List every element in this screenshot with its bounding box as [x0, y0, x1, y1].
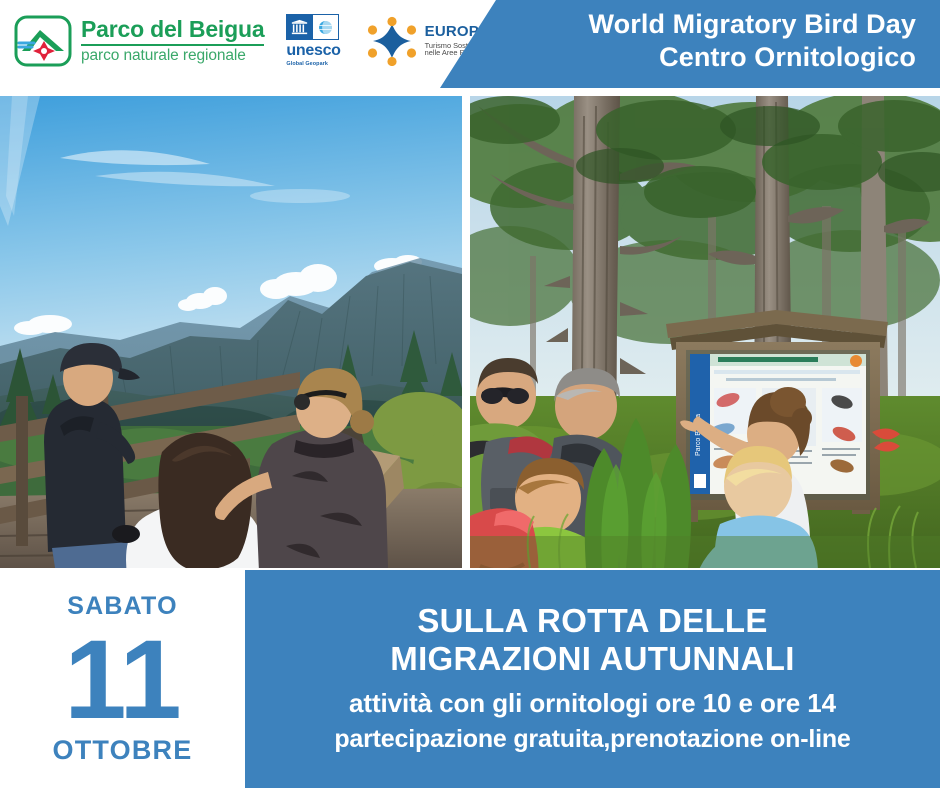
header-banner: World Migratory Bird Day Centro Ornitolo… — [440, 0, 940, 88]
header-banner-text: World Migratory Bird Day Centro Ornitolo… — [589, 8, 916, 75]
event-title: SULLA ROTTA DELLE MIGRAZIONI AUTUNNALI — [390, 602, 794, 679]
bottom-section: SABATO 11 OTTOBRE SULLA ROTTA DELLE MIGR… — [0, 570, 940, 788]
event-title-line-1: SULLA ROTTA DELLE — [390, 602, 794, 640]
event-subtitle: attività con gli ornitologi ore 10 e ore… — [349, 687, 836, 721]
event-info-block: SULLA ROTTA DELLE MIGRAZIONI AUTUNNALI a… — [245, 570, 940, 788]
event-booking-note: partecipazione gratuita,prenotazione on-… — [334, 723, 850, 756]
unesco-globe-icon — [312, 15, 338, 39]
beigua-emblem-icon — [14, 15, 72, 67]
logo-unesco: unesco Global Geopark — [286, 14, 340, 67]
unesco-emblem-icon — [286, 14, 339, 40]
date-month: OTTOBRE — [53, 737, 193, 764]
beigua-title: Parco del Beigua — [81, 18, 264, 41]
logo-parco-del-beigua: Parco del Beigua parco naturale regional… — [14, 15, 264, 67]
banner-line-2: Centro Ornitologico — [589, 41, 916, 74]
banner-line-1: World Migratory Bird Day — [589, 8, 916, 41]
event-title-line-2: MIGRAZIONI AUTUNNALI — [390, 640, 794, 678]
date-block: SABATO 11 OTTOBRE — [0, 570, 245, 788]
logo-strip: Parco del Beigua parco naturale regional… — [14, 14, 511, 67]
photo-info-panel-forest: Parco Beigua — [470, 96, 940, 568]
unesco-temple-icon — [287, 15, 312, 39]
europarc-star-icon — [365, 16, 419, 66]
date-weekday: SABATO — [67, 594, 177, 619]
beigua-divider — [81, 44, 264, 46]
beigua-wordmark: Parco del Beigua parco naturale regional… — [81, 18, 264, 64]
beigua-subtitle: parco naturale regionale — [81, 48, 264, 64]
date-day-number: 11 — [64, 625, 180, 735]
unesco-subtitle: Global Geopark — [286, 61, 328, 67]
header: Parco del Beigua parco naturale regional… — [0, 0, 940, 92]
unesco-wordmark: unesco — [286, 42, 340, 60]
photo-strip: Parco Beigua — [0, 96, 940, 568]
poster-root: Parco del Beigua parco naturale regional… — [0, 0, 940, 788]
photo-viewpoint-terrace — [0, 96, 462, 568]
